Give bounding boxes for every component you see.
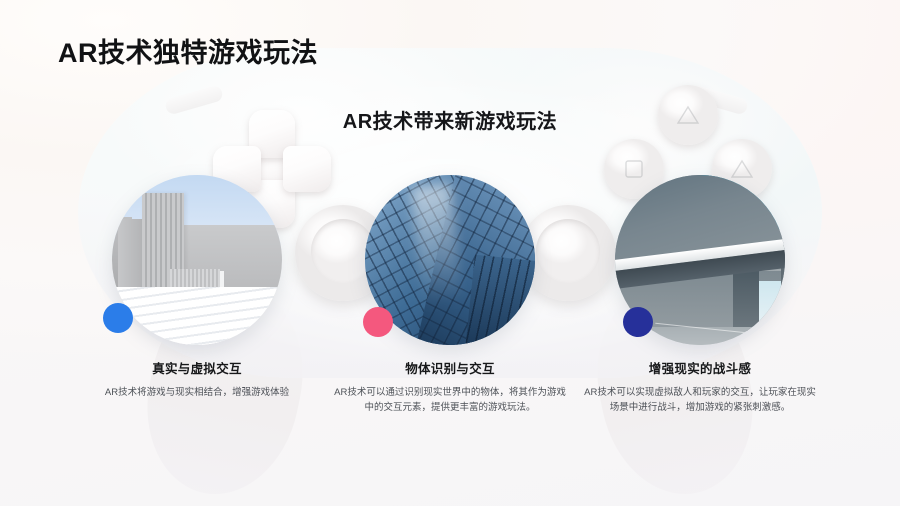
feature-column-2: 物体识别与交互 AR技术可以通过识别现实世界中的物体，将其作为游戏中的交互元素，… — [325, 175, 575, 416]
feature-image-1 — [112, 175, 282, 345]
feature-title-1: 真实与虚拟交互 — [72, 358, 322, 377]
feature-body-3: AR技术可以实现虚拟敌人和玩家的交互，让玩家在现实场景中进行战斗，增加游戏的紧张… — [575, 385, 825, 416]
accent-dot-3 — [623, 307, 653, 337]
feature-image-wrap-3 — [615, 175, 785, 345]
accent-dot-1 — [103, 303, 133, 333]
feature-columns: 真实与虚拟交互 AR技术将游戏与现实相结合，增强游戏体验 物体识别与交互 A — [0, 0, 900, 506]
feature-title-3: 增强现实的战斗感 — [575, 358, 825, 377]
accent-dot-2 — [363, 307, 393, 337]
city-architecture-artwork — [112, 175, 282, 345]
feature-body-1: AR技术将游戏与现实相结合，增强游戏体验 — [72, 385, 322, 400]
feature-title-2: 物体识别与交互 — [325, 358, 575, 377]
slide-canvas: AR技术独特游戏玩法 AR技术带来新游戏玩法 — [0, 0, 900, 506]
feature-image-wrap-2 — [365, 175, 535, 345]
feature-body-2: AR技术可以通过识别现实世界中的物体，将其作为游戏中的交互元素，提供更丰富的游戏… — [325, 385, 575, 416]
feature-image-wrap-1 — [112, 175, 282, 345]
feature-column-3: 增强现实的战斗感 AR技术可以实现虚拟敌人和玩家的交互，让玩家在现实场景中进行战… — [575, 175, 825, 416]
feature-column-1: 真实与虚拟交互 AR技术将游戏与现实相结合，增强游戏体验 — [72, 175, 322, 400]
